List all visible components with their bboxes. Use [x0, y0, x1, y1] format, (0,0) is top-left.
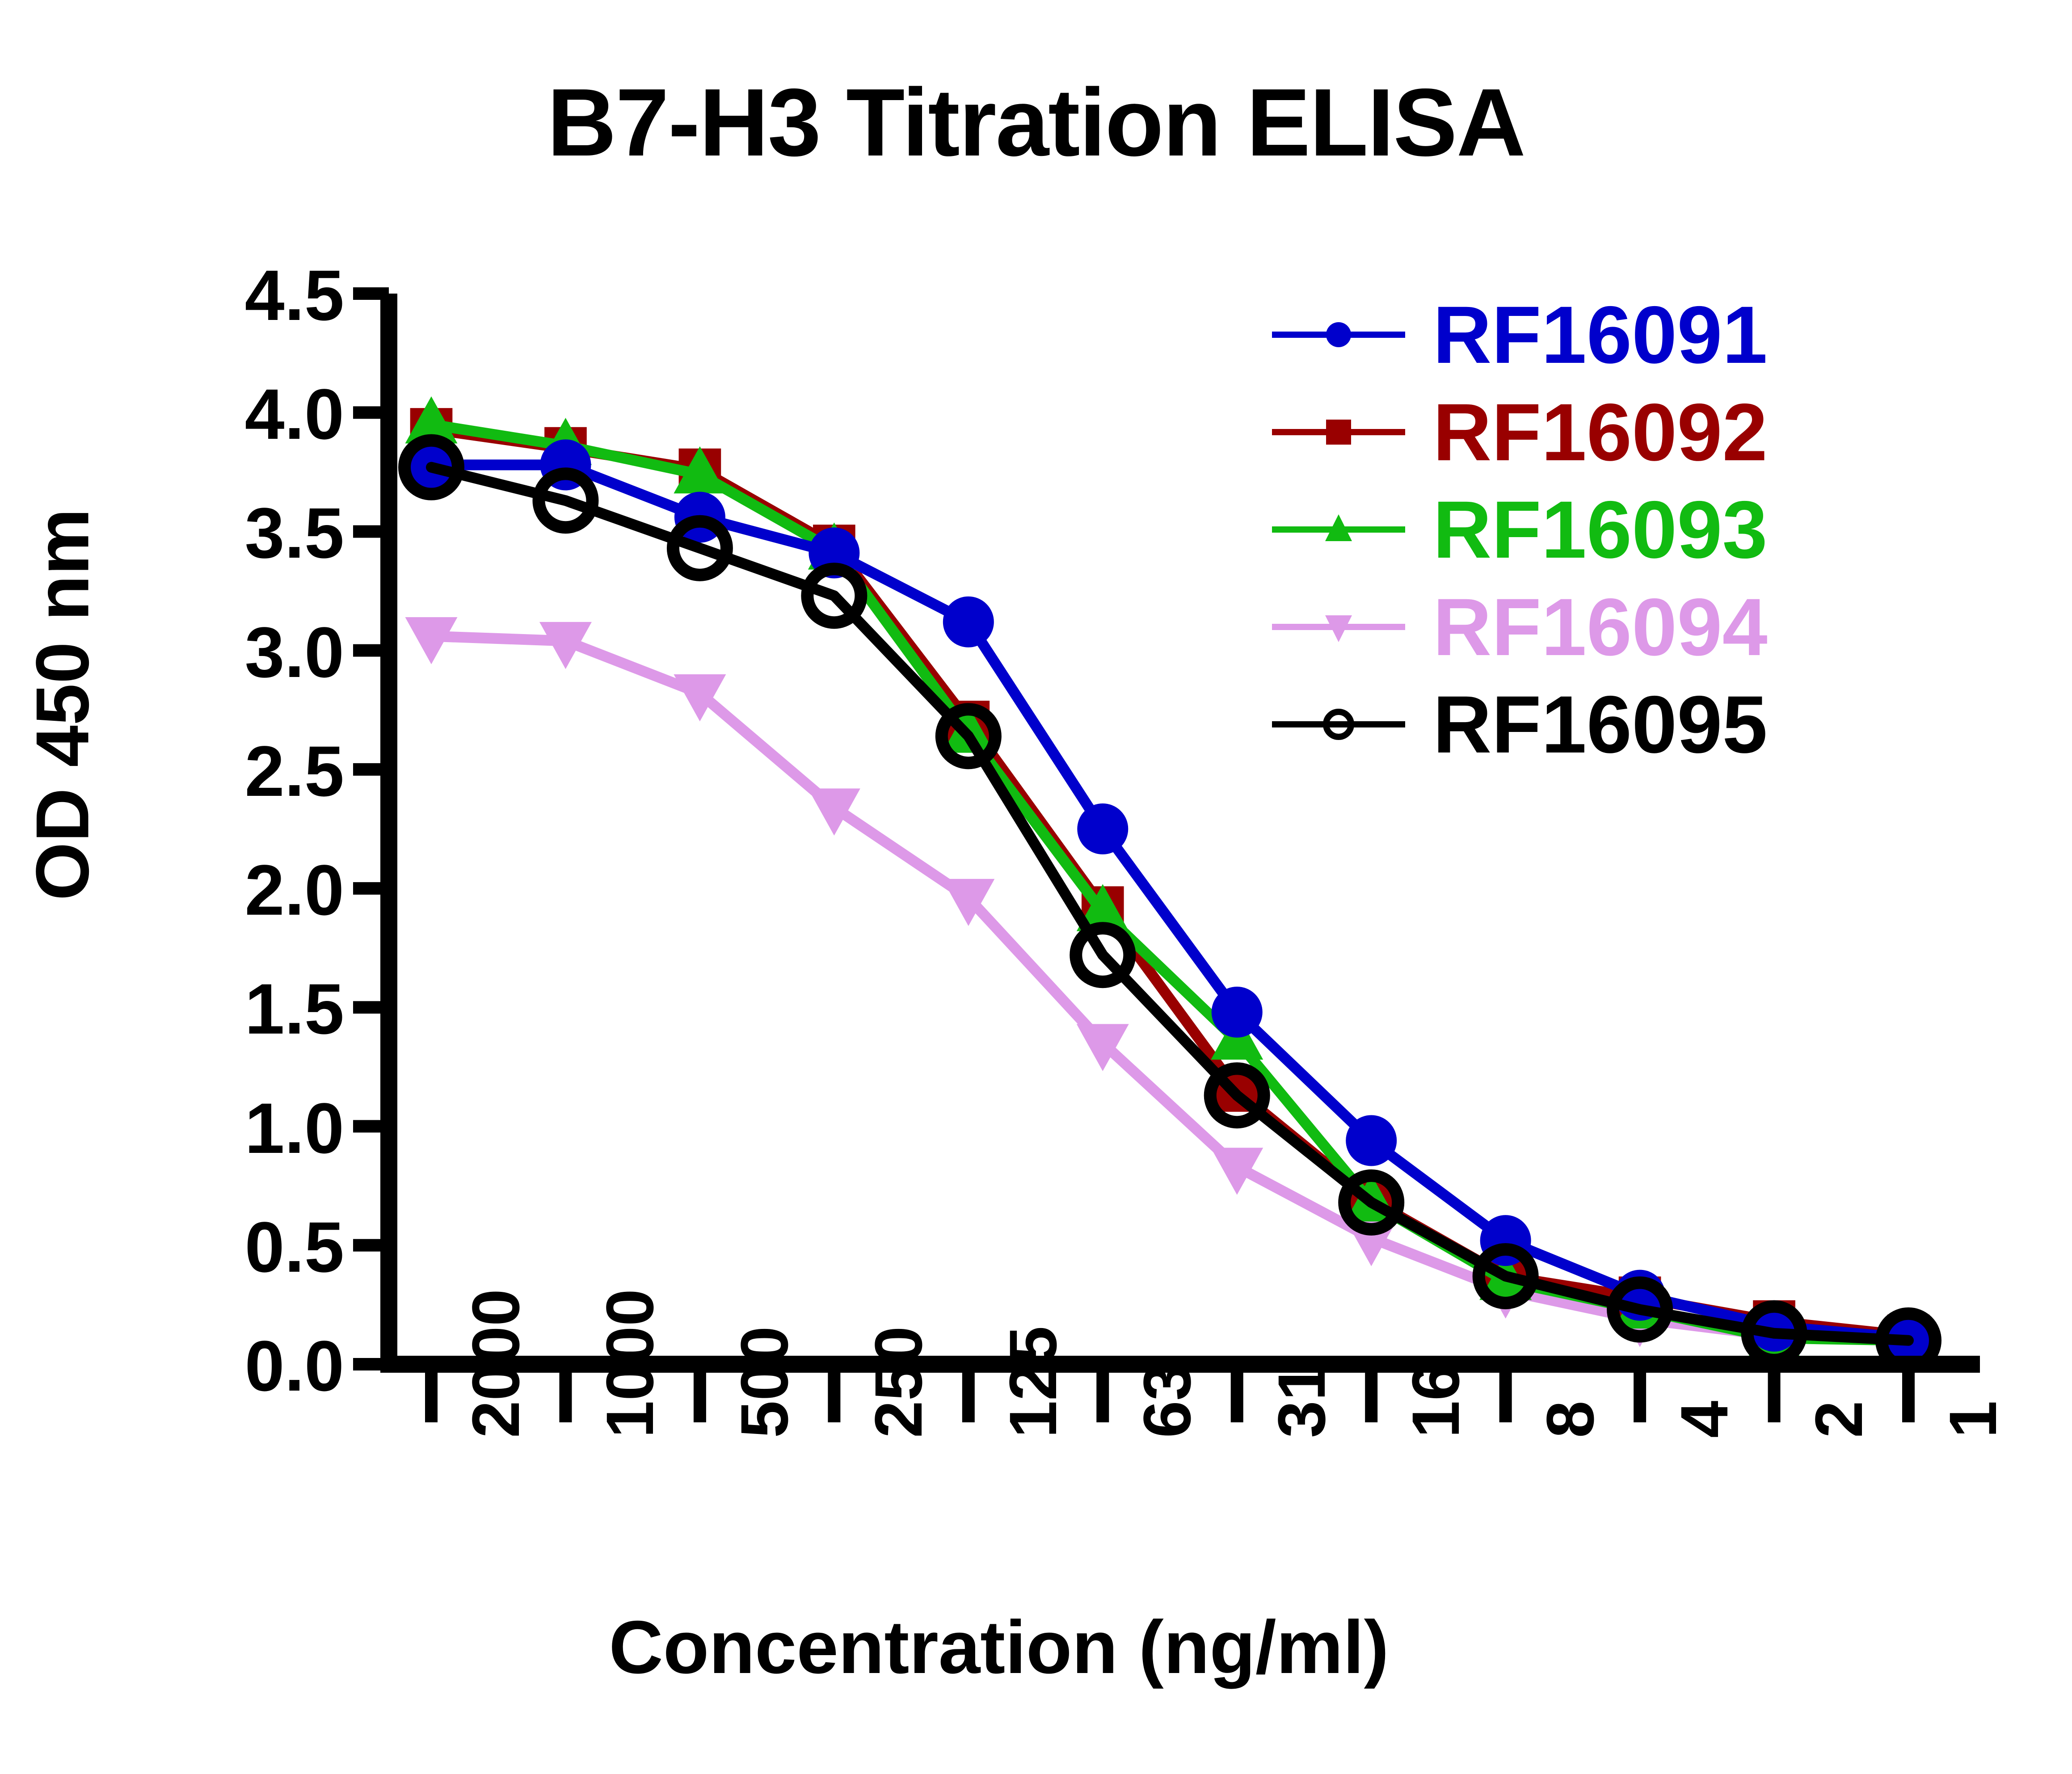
- x-tick-label: 1: [1934, 1401, 2012, 1438]
- legend-label: RF16094: [1433, 586, 1768, 668]
- data-point-circle: [1348, 1118, 1394, 1164]
- data-point-circle-open: [404, 441, 458, 494]
- legend-label: RF16091: [1433, 294, 1768, 375]
- x-tick-label: 250: [860, 1326, 937, 1438]
- legend-item-rf16093[interactable]: RF16093: [1269, 481, 1768, 578]
- data-point-circle-open: [807, 569, 861, 622]
- data-point-circle: [945, 599, 992, 645]
- y-tick-label: 4.0: [121, 373, 344, 455]
- legend-label: RF16093: [1433, 489, 1768, 570]
- data-point-triangle-down: [808, 789, 860, 836]
- x-tick-label: 31: [1263, 1363, 1340, 1438]
- x-tick-label: 2: [1800, 1401, 1878, 1438]
- data-point-circle-open: [1344, 1176, 1398, 1229]
- data-point-circle-open: [1748, 1307, 1801, 1360]
- data-point-circle-open: [1076, 928, 1129, 982]
- legend-item-rf16094[interactable]: RF16094: [1269, 578, 1768, 676]
- y-tick-label: 1.0: [121, 1087, 344, 1169]
- data-point-circle-open: [1479, 1249, 1533, 1303]
- legend-label: RF16092: [1433, 391, 1768, 473]
- y-tick-label: 2.0: [121, 849, 344, 931]
- legend-marker-icon: [1269, 503, 1408, 556]
- legend-item-rf16091[interactable]: RF16091: [1269, 286, 1768, 383]
- x-tick-label: 63: [1129, 1363, 1206, 1438]
- data-point-circle-open: [1613, 1283, 1667, 1337]
- data-point-circle: [1214, 989, 1260, 1035]
- chart-canvas: B7-H3 Titration ELISA OD 450 nm Concentr…: [0, 0, 2072, 1774]
- y-tick-label: 4.5: [121, 254, 344, 336]
- y-tick-label: 0.5: [121, 1206, 344, 1288]
- x-tick-label: 125: [994, 1326, 1072, 1438]
- data-point-circle-open: [1210, 1068, 1264, 1122]
- legend-marker-icon: [1269, 405, 1408, 459]
- legend-marker-icon: [1269, 698, 1408, 751]
- legend-marker-icon: [1269, 308, 1408, 362]
- x-axis-title: Concentration (ng/ml): [340, 1604, 1658, 1690]
- legend-item-rf16092[interactable]: RF16092: [1269, 383, 1768, 481]
- data-point-circle-open: [539, 474, 592, 527]
- y-tick-label: 1.5: [121, 968, 344, 1050]
- legend: RF16091RF16092RF16093RF16094RF16095: [1269, 286, 1768, 773]
- y-tick-label: 2.5: [121, 730, 344, 812]
- y-tick-label: 0.0: [121, 1325, 344, 1407]
- x-tick-label: 2000: [457, 1289, 535, 1438]
- data-point-circle: [1079, 806, 1126, 852]
- x-tick-label: 500: [726, 1326, 803, 1438]
- legend-marker-icon: [1269, 600, 1408, 654]
- x-tick-label: 8: [1532, 1401, 1609, 1438]
- y-tick-label: 3.5: [121, 492, 344, 574]
- x-tick-label: 4: [1666, 1401, 1743, 1438]
- data-point-circle-open: [942, 709, 995, 763]
- y-axis-title: OD 450 nm: [20, 258, 106, 1152]
- y-tick-label: 3.0: [121, 611, 344, 694]
- x-tick-label: 16: [1397, 1363, 1474, 1438]
- legend-label: RF16095: [1433, 684, 1768, 765]
- x-tick-label: 1000: [591, 1289, 669, 1438]
- data-point-circle-open: [673, 521, 727, 575]
- legend-item-rf16095[interactable]: RF16095: [1269, 676, 1768, 773]
